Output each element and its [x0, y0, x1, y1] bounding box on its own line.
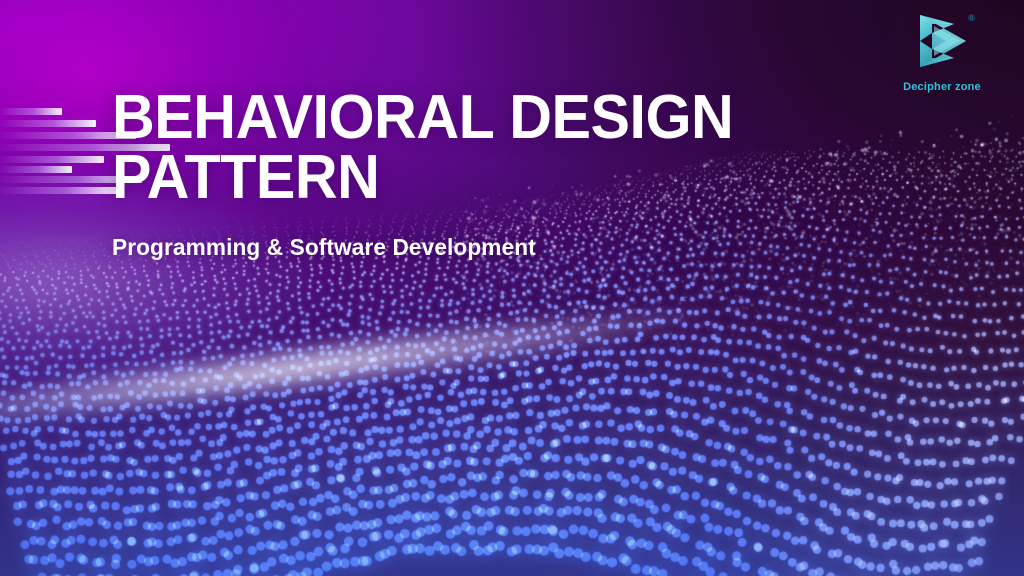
headline-block: BEHAVIORAL DESIGN PATTERN Programming & … — [112, 88, 872, 261]
page-title: BEHAVIORAL DESIGN PATTERN — [112, 88, 838, 208]
speed-lines-decoration — [0, 108, 112, 194]
deco-line — [0, 187, 118, 194]
presentation-banner: BEHAVIORAL DESIGN PATTERN Programming & … — [0, 0, 1024, 576]
deco-line — [0, 120, 96, 127]
deco-line — [0, 166, 72, 173]
brand-name: Decipher zone — [894, 81, 990, 93]
page-subtitle: Programming & Software Development — [112, 234, 861, 261]
brand-lockup[interactable]: ® Decipher zone — [894, 12, 990, 93]
decipher-zone-arrow-logo[interactable]: ® — [914, 12, 970, 70]
deco-line — [0, 108, 62, 115]
deco-line — [0, 156, 104, 163]
registered-trademark-icon: ® — [968, 14, 975, 23]
